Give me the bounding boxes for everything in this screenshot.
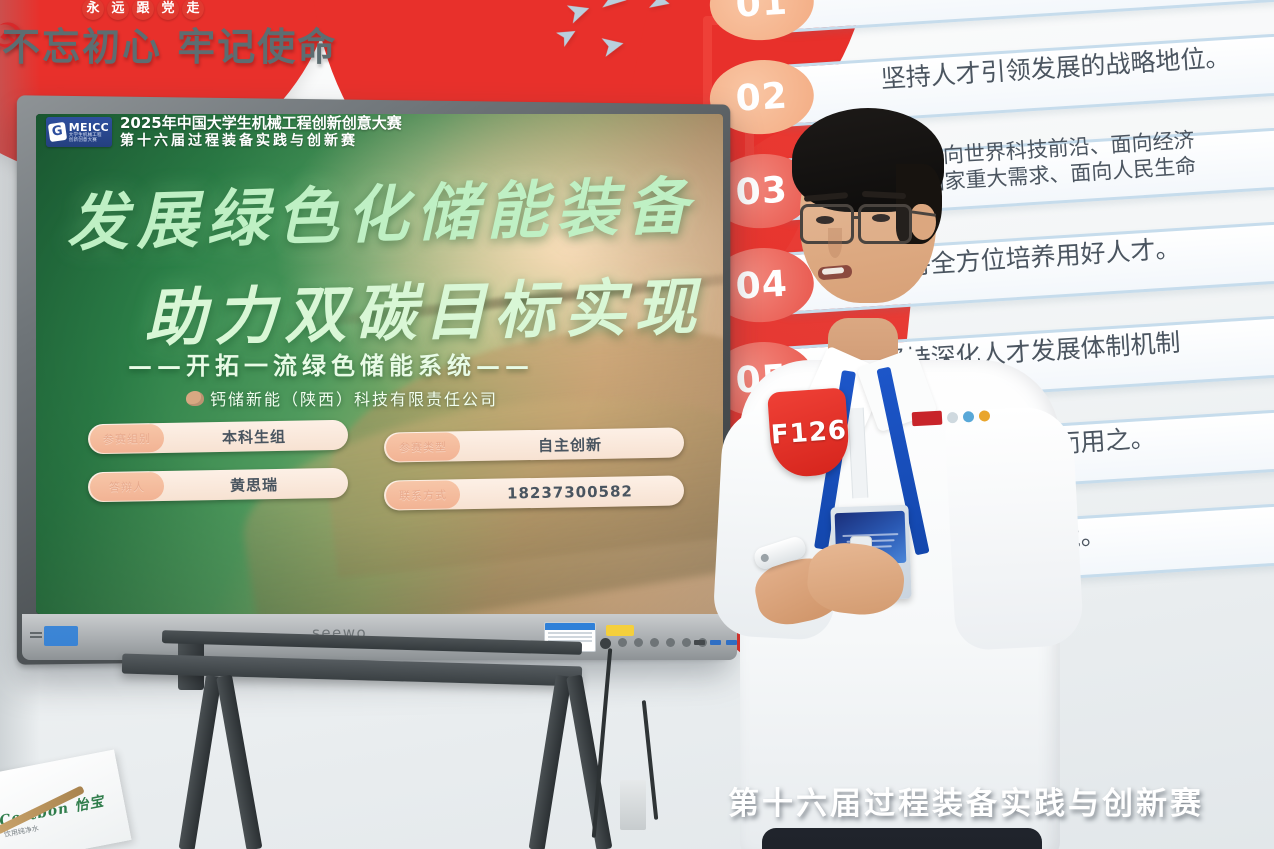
volume-down-button[interactable] <box>634 638 643 647</box>
info-pill: 参赛类型 自主创新 <box>384 427 684 462</box>
source-button[interactable] <box>666 638 675 647</box>
panel-number-badge: 01 <box>708 0 816 43</box>
scene-root: ➤ ➤ ➤ ➤ ➤ ☭ 永 远 跟 党 走 不忘初心 牢记使命 01 坚持党对人… <box>0 0 1274 849</box>
info-pill-label: 答辩人 <box>90 472 164 501</box>
sleeve-right <box>944 405 1084 651</box>
meicc-mark: G <box>48 122 67 142</box>
glasses-lens-right <box>858 204 912 244</box>
menu-button[interactable] <box>618 638 627 647</box>
sponsor-dot-icon-2 <box>963 411 975 423</box>
info-pill-value: 自主创新 <box>464 432 676 457</box>
nose <box>828 228 842 258</box>
info-pill: 参赛组别 本科生组 <box>88 420 348 455</box>
info-pill-value: 18237300582 <box>464 482 676 504</box>
slide-subtitle: ——开拓一流绿色储能系统—— <box>128 346 534 381</box>
slide-header-line2: 第十六届过程装备实践与创新赛 <box>120 133 402 150</box>
wall-slogan-main: 不忘初心 牢记使命 <box>2 16 337 71</box>
clicker-button-icon[interactable] <box>760 553 770 563</box>
floor-device-box <box>620 780 646 830</box>
panel-text-line: 坚持人才引领发展的战略地位。 <box>880 36 1274 95</box>
sponsor-logo-icon <box>912 411 943 427</box>
info-pill-value: 本科生组 <box>168 424 340 448</box>
slide-company: 钙储新能（陕西）科技有限责任公司 <box>186 386 498 410</box>
info-pill: 联系方式 18237300582 <box>384 475 684 510</box>
chin-yellow-label <box>606 625 634 636</box>
contestant-number: F126 <box>770 415 848 450</box>
event-watermark: 第十六届过程装备实践与创新赛 <box>728 778 1204 823</box>
glasses-lens-left <box>800 204 854 244</box>
display-screen[interactable]: G MEICC 大学生机械工程 创新创意大赛 2025年中国大学生机械工程创新创… <box>36 114 723 614</box>
sponsor-dot-icon-3 <box>979 410 991 422</box>
interactive-display[interactable]: G MEICC 大学生机械工程 创新创意大赛 2025年中国大学生机械工程创新创… <box>22 100 737 660</box>
company-name: 钙储新能（陕西）科技有限责任公司 <box>210 386 498 410</box>
ear <box>910 204 936 240</box>
slide-title-line1: 发展绿色化储能装备 <box>65 155 697 263</box>
meicc-logo-icon: G MEICC 大学生机械工程 创新创意大赛 <box>46 117 112 147</box>
info-pill-label: 联系方式 <box>386 480 460 509</box>
presentation-slide: G MEICC 大学生机械工程 创新创意大赛 2025年中国大学生机械工程创新创… <box>36 114 723 614</box>
wall-slogan-plaque: ☭ 永 远 跟 党 走 不忘初心 牢记使命 <box>0 0 300 84</box>
volume-up-button[interactable] <box>650 638 659 647</box>
info-pill-value: 黄思瑞 <box>168 472 340 496</box>
slide-title-line2: 助力双碳目标实现 <box>143 256 705 358</box>
slide-header: G MEICC 大学生机械工程 创新创意大赛 2025年中国大学生机械工程创新创… <box>36 114 723 150</box>
info-pill-label: 参赛类型 <box>386 432 460 461</box>
company-logo-icon <box>186 391 204 406</box>
pants <box>762 828 1042 849</box>
presenter: F126 <box>700 108 1120 849</box>
info-pill: 答辩人 黄思瑞 <box>88 468 348 503</box>
info-pill-label: 参赛组别 <box>90 424 164 453</box>
display-control-buttons[interactable] <box>600 638 707 649</box>
home-button[interactable] <box>682 638 691 647</box>
chin-vent-icon <box>30 632 42 638</box>
slide-header-line1: 2025年中国大学生机械工程创新创意大赛 <box>120 115 402 133</box>
meicc-sub2: 创新创意大赛 <box>69 138 109 143</box>
sponsor-dot-icon <box>947 411 959 423</box>
chin-left-sticker <box>44 626 78 646</box>
glasses-bridge <box>853 216 861 219</box>
